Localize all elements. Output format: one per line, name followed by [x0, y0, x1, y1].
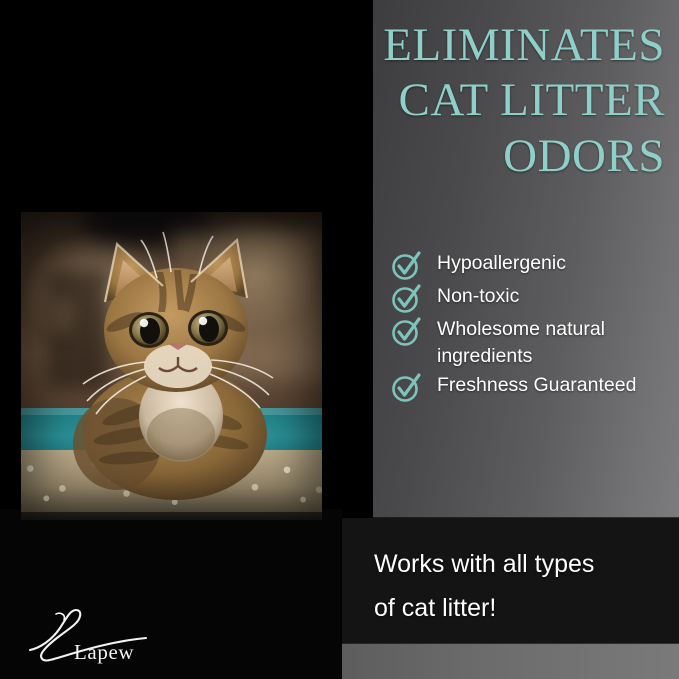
feature-item: Non-toxic	[391, 283, 676, 314]
kitten-illustration	[71, 238, 286, 500]
caption-line-2: of cat litter!	[374, 586, 664, 630]
feature-label: Freshness Guaranteed	[437, 372, 636, 399]
check-circle-icon	[391, 251, 421, 281]
product-marketing-image: ELIMINATES CAT LITTER ODORS	[0, 0, 679, 679]
caption-box: Works with all types of cat litter!	[342, 518, 679, 643]
headline-line-3: ODORS	[265, 129, 665, 184]
feature-item: Hypoallergenic	[391, 250, 676, 281]
feature-label: Wholesome natural ingredients	[437, 316, 652, 370]
feature-item: Freshness Guaranteed	[391, 372, 676, 403]
check-circle-icon	[391, 373, 421, 403]
caption-text: Works with all types of cat litter!	[374, 542, 664, 630]
headline: ELIMINATES CAT LITTER ODORS	[265, 18, 665, 184]
caption-line-1: Works with all types	[374, 542, 664, 586]
brand-logo: Lapew	[26, 604, 176, 666]
check-circle-icon	[391, 317, 421, 347]
feature-label: Non-toxic	[437, 283, 519, 310]
feature-list: Hypoallergenic Non-toxic Wholesome natur…	[391, 250, 676, 405]
feature-label: Hypoallergenic	[437, 250, 566, 277]
product-photo	[21, 212, 322, 520]
photo-blurred-handle	[57, 298, 67, 332]
feature-item: Wholesome natural ingredients	[391, 316, 676, 370]
headline-line-1: ELIMINATES	[265, 18, 665, 73]
brand-wordmark: Lapew	[74, 640, 134, 665]
headline-line-2: CAT LITTER	[265, 73, 665, 128]
check-circle-icon	[391, 284, 421, 314]
